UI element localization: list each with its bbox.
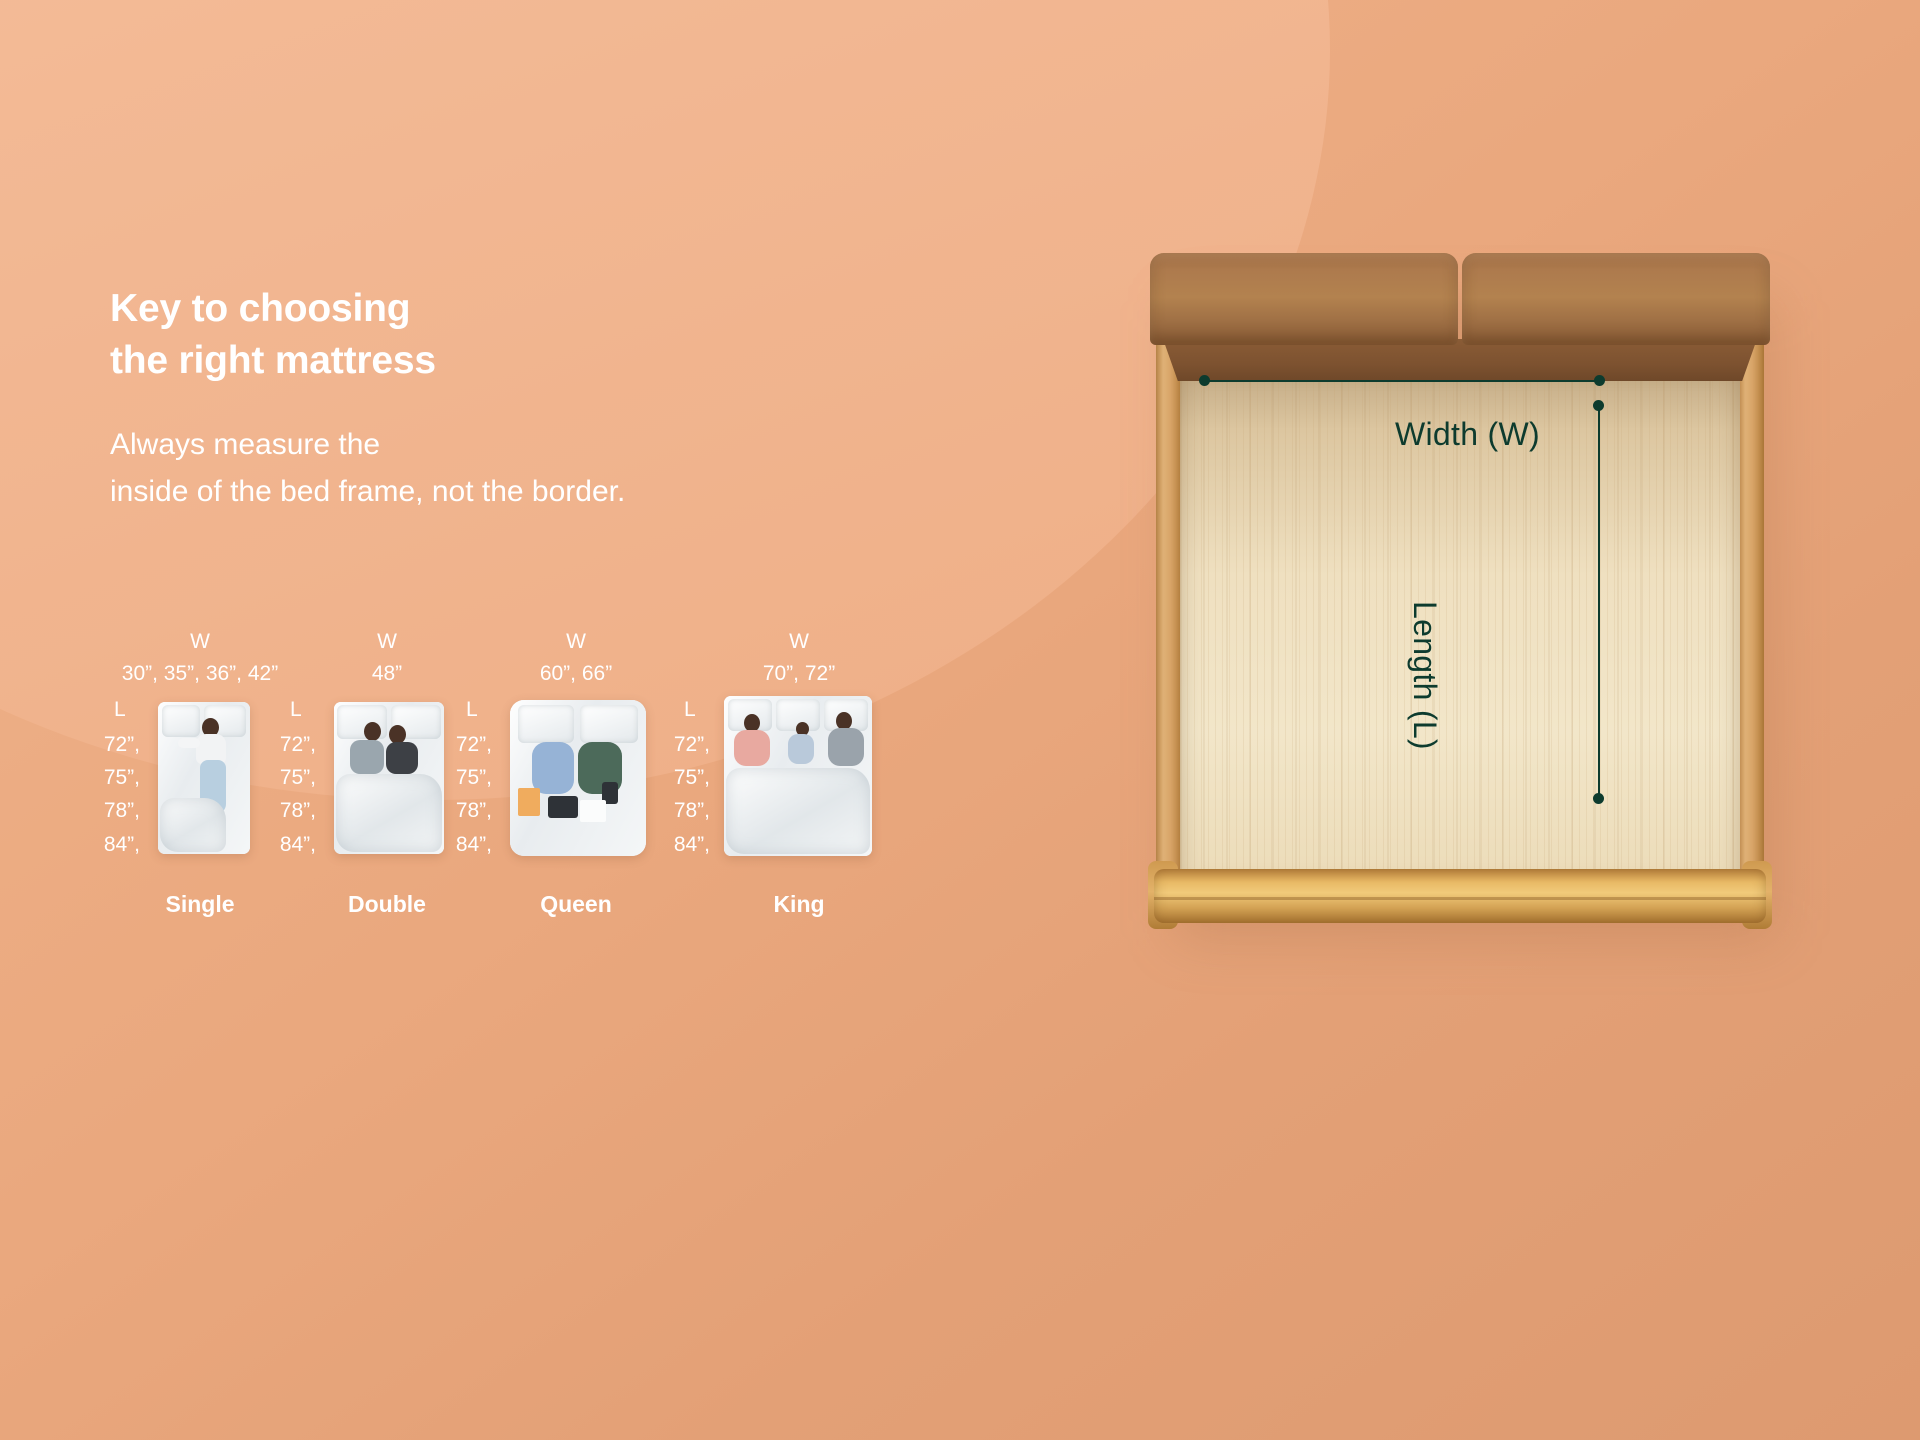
size-label-single: Single — [110, 891, 290, 918]
king-length-values: 72”, 75”, 78”, 84”, — [658, 728, 710, 861]
subtitle-line-2: inside of the bed frame, not the border. — [110, 469, 790, 516]
size-card-single: W 30”, 35”, 36”, 42” L 72”, 75”, 78”, 84… — [150, 630, 250, 910]
king-width-letter: W — [724, 630, 874, 654]
size-card-queen: W 60”, 66” L 72”, 75”, 78”, 84”, Queen — [506, 630, 646, 910]
infographic-canvas: Key to choosing the right mattress Alway… — [0, 0, 1920, 1440]
headboard-skirt — [1163, 339, 1757, 381]
bed-rail-left — [1156, 313, 1182, 889]
footboard — [1154, 869, 1766, 923]
duvet — [336, 774, 442, 852]
size-card-king: W 70”, 72” L 72”, 75”, 78”, 84”, King — [724, 630, 874, 910]
single-width-letter: W — [150, 630, 250, 654]
size-label-queen: Queen — [466, 891, 686, 918]
length-endpoint-bottom-dot — [1593, 793, 1604, 804]
sitter-torso-left — [532, 742, 574, 794]
mattress-photo-king — [724, 696, 872, 856]
headboard — [1150, 253, 1770, 345]
single-length-values: 72”, 75”, 78”, 84”, — [88, 728, 140, 861]
pillow — [518, 705, 574, 743]
king-width-values: 70”, 72” — [664, 662, 934, 686]
size-card-double: W 48” L 72”, 75”, 78”, 84”, Double — [328, 630, 446, 910]
length-label: Length (L) — [1406, 601, 1443, 750]
headboard-cushion-left — [1150, 253, 1458, 345]
pillow — [580, 705, 638, 743]
mattress-photo-double — [334, 702, 444, 854]
mattress-size-comparison: W 30”, 35”, 36”, 42” L 72”, 75”, 78”, 84… — [100, 630, 930, 910]
parent-torso-right — [828, 728, 864, 766]
size-label-double: Double — [288, 891, 486, 918]
width-measure-line — [1203, 380, 1601, 382]
child-torso — [788, 734, 814, 764]
size-label-king: King — [684, 891, 914, 918]
subtitle-line-1: Always measure the — [110, 422, 790, 469]
queen-length-values: 72”, 75”, 78”, 84”, — [440, 728, 492, 861]
double-width-letter: W — [328, 630, 446, 654]
parent-torso-left — [734, 730, 770, 766]
double-length-values: 72”, 75”, 78”, 84”, — [264, 728, 316, 861]
bed-rail-right — [1738, 313, 1764, 889]
double-length-letter: L — [290, 698, 302, 722]
duvet — [160, 798, 226, 852]
duvet — [726, 768, 870, 854]
width-label: Width (W) — [1395, 416, 1540, 453]
headboard-cushion-right — [1462, 253, 1770, 345]
page-title: Key to choosing the right mattress — [110, 283, 730, 387]
laptop — [548, 796, 578, 818]
king-length-letter: L — [684, 698, 696, 722]
width-endpoint-right-dot — [1594, 375, 1605, 386]
single-length-letter: L — [114, 698, 126, 722]
queen-width-letter: W — [506, 630, 646, 654]
bed-frame-illustration — [1150, 253, 1770, 923]
headline-line-2: the right mattress — [110, 335, 730, 387]
pillow — [162, 705, 200, 737]
mattress-photo-single — [158, 702, 250, 854]
sleeper-head-left — [364, 722, 381, 741]
width-endpoint-left-dot — [1199, 375, 1210, 386]
paper — [580, 800, 606, 822]
sleeper-torso-left — [350, 740, 384, 774]
queen-length-letter: L — [466, 698, 478, 722]
sleeper-arm — [178, 738, 200, 748]
notebook — [518, 788, 540, 816]
length-measure-line — [1598, 404, 1600, 800]
sleeper-torso-right — [386, 742, 418, 774]
headline-line-1: Key to choosing — [110, 283, 730, 335]
subtitle: Always measure the inside of the bed fra… — [110, 422, 790, 515]
length-endpoint-top-dot — [1593, 400, 1604, 411]
mattress-photo-queen — [510, 700, 646, 856]
